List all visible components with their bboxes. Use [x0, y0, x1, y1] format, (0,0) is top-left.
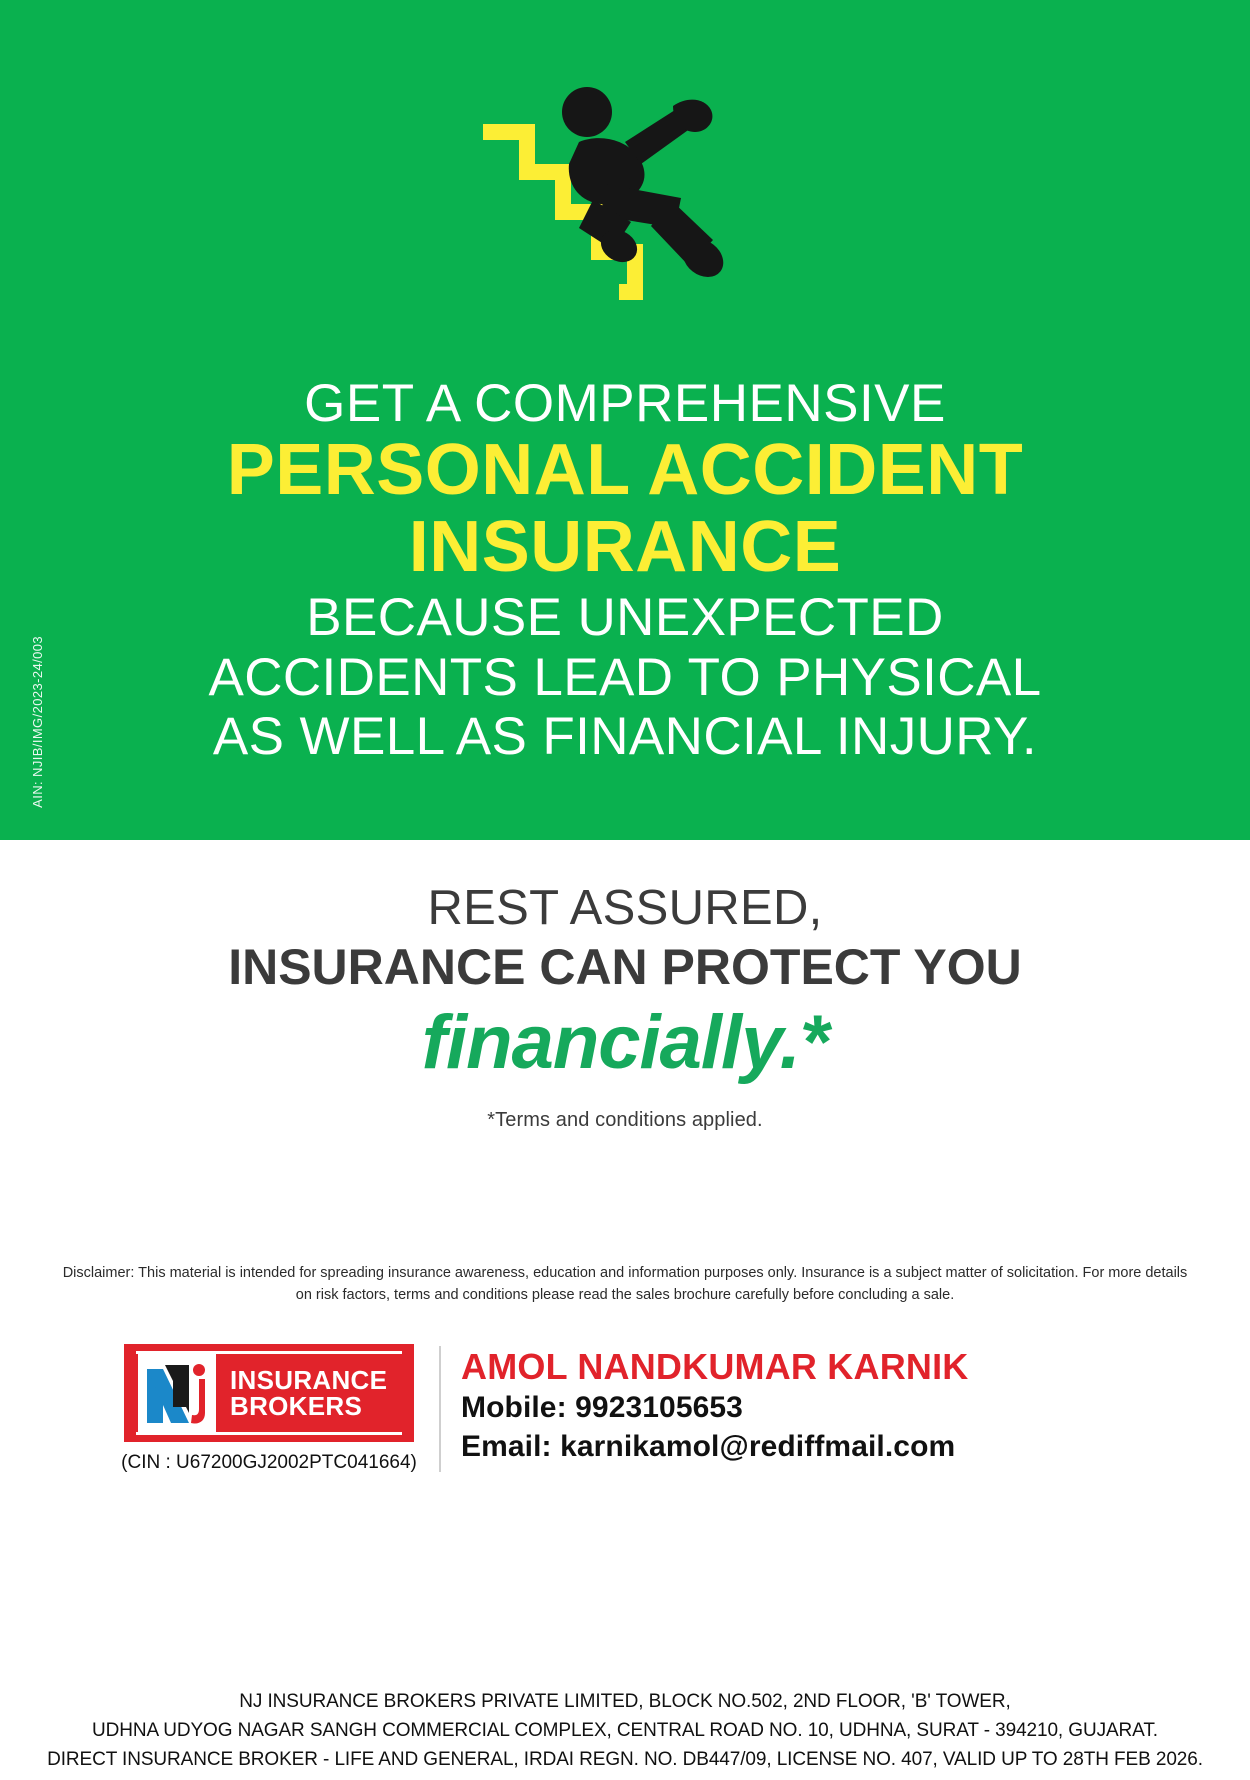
nj-monogram-icon: [138, 1354, 216, 1432]
hero-panel: AIN: NJIB/IMG/2023-24/003: [0, 0, 1250, 840]
footer-divider: [439, 1346, 441, 1472]
logo-column: INSURANCE BROKERS (CIN : U67200GJ2002PTC…: [109, 1340, 429, 1474]
message-block: REST ASSURED, INSURANCE CAN PROTECT YOU …: [0, 880, 1250, 1132]
agent-name: AMOL NANDKUMAR KARNIK: [461, 1346, 1141, 1388]
logo-word-insurance: INSURANCE: [230, 1367, 387, 1393]
hero-headline-big-line1: PERSONAL ACCIDENT: [0, 432, 1250, 509]
message-line-rest-assured: REST ASSURED,: [0, 880, 1250, 938]
poster-root: AIN: NJIB/IMG/2023-24/003: [0, 0, 1250, 1780]
terms-and-conditions-note: *Terms and conditions applied.: [0, 1109, 1250, 1132]
address-line-3: DIRECT INSURANCE BROKER - LIFE AND GENER…: [20, 1746, 1230, 1775]
hero-headline-big-line2: INSURANCE: [0, 509, 1250, 586]
message-line-protect-you: INSURANCE CAN PROTECT YOU: [0, 938, 1250, 997]
disclaimer-text: Disclaimer: This material is intended fo…: [60, 1262, 1190, 1307]
hero-subhead-line1: BECAUSE UNEXPECTED: [0, 588, 1250, 647]
hero-headline-small: GET A COMPREHENSIVE: [0, 375, 1250, 432]
company-address-block: NJ INSURANCE BROKERS PRIVATE LIMITED, BL…: [20, 1688, 1230, 1775]
address-line-1: NJ INSURANCE BROKERS PRIVATE LIMITED, BL…: [20, 1688, 1230, 1717]
nj-insurance-brokers-logo: INSURANCE BROKERS: [124, 1344, 414, 1442]
agent-mobile[interactable]: Mobile: 9923105653: [461, 1388, 1141, 1427]
hero-subhead-line2: ACCIDENTS LEAD TO PHYSICAL: [0, 648, 1250, 707]
hero-subhead-line3: AS WELL AS FINANCIAL INJURY.: [0, 707, 1250, 766]
footer-block: INSURANCE BROKERS (CIN : U67200GJ2002PTC…: [0, 1340, 1250, 1474]
agent-email[interactable]: Email: karnikamol@rediffmail.com: [461, 1427, 1141, 1466]
agent-contact-column: AMOL NANDKUMAR KARNIK Mobile: 9923105653…: [461, 1340, 1141, 1466]
logo-wordmark: INSURANCE BROKERS: [230, 1367, 387, 1419]
falling-person-on-stairs-icon: [0, 80, 1250, 345]
hero-headline-block: GET A COMPREHENSIVE PERSONAL ACCIDENT IN…: [0, 375, 1250, 766]
address-line-2: UDHNA UDYOG NAGAR SANGH COMMERCIAL COMPL…: [20, 1717, 1230, 1746]
cin-number: (CIN : U67200GJ2002PTC041664): [109, 1452, 429, 1474]
message-script-financially: financially.*: [0, 999, 1250, 1087]
logo-word-brokers: BROKERS: [230, 1393, 387, 1419]
